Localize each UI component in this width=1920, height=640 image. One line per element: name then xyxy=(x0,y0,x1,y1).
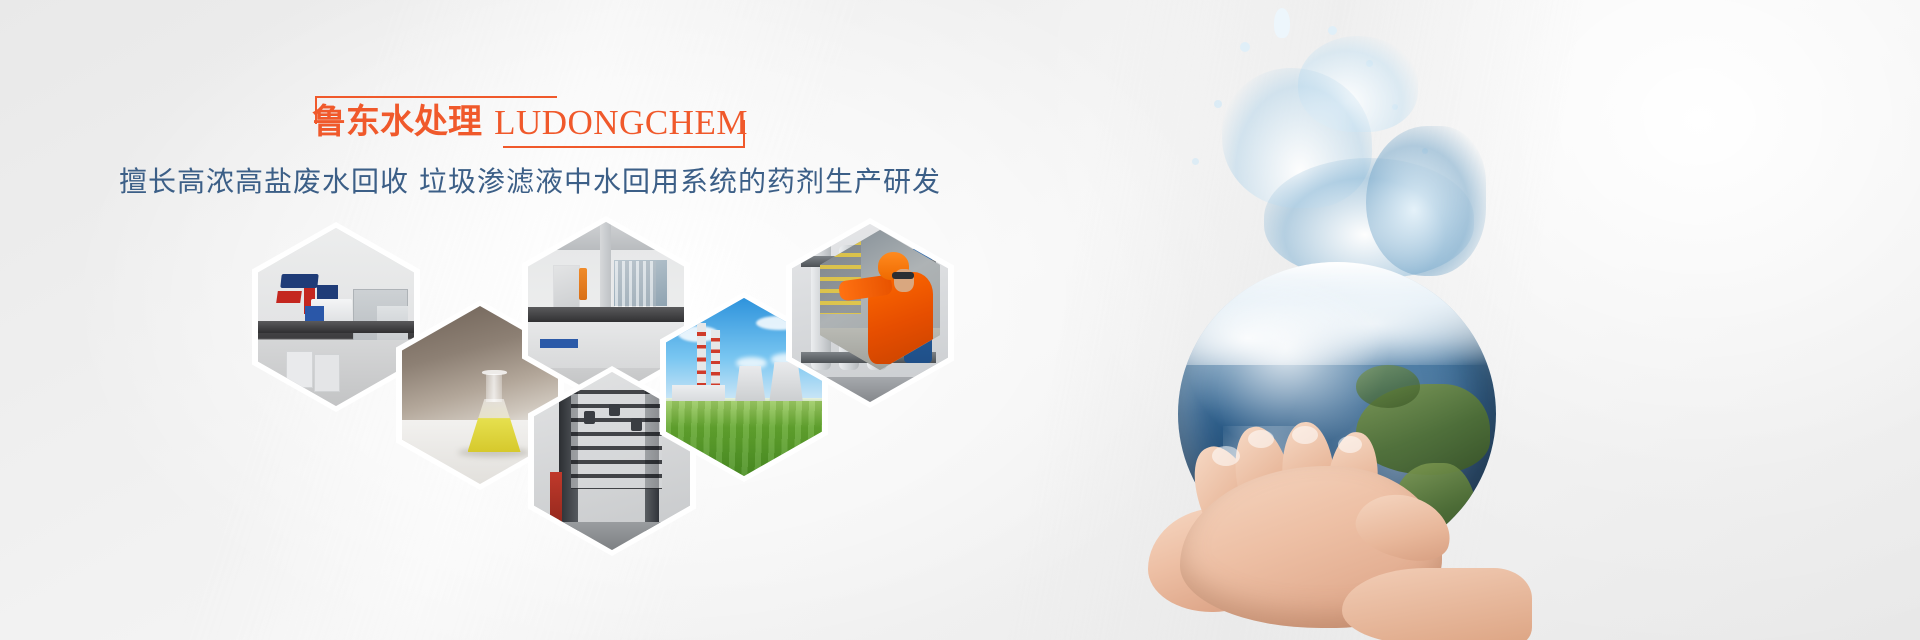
water-globe-artwork xyxy=(1060,0,1920,640)
hands-holding-globe xyxy=(1106,392,1526,640)
hero-banner: 鲁东水处理 LUDONGCHEM 擅长高浓高盐废水回收 垃圾渗滤液中水回用系统的… xyxy=(0,0,1920,640)
hexagon-gallery xyxy=(0,0,1080,640)
